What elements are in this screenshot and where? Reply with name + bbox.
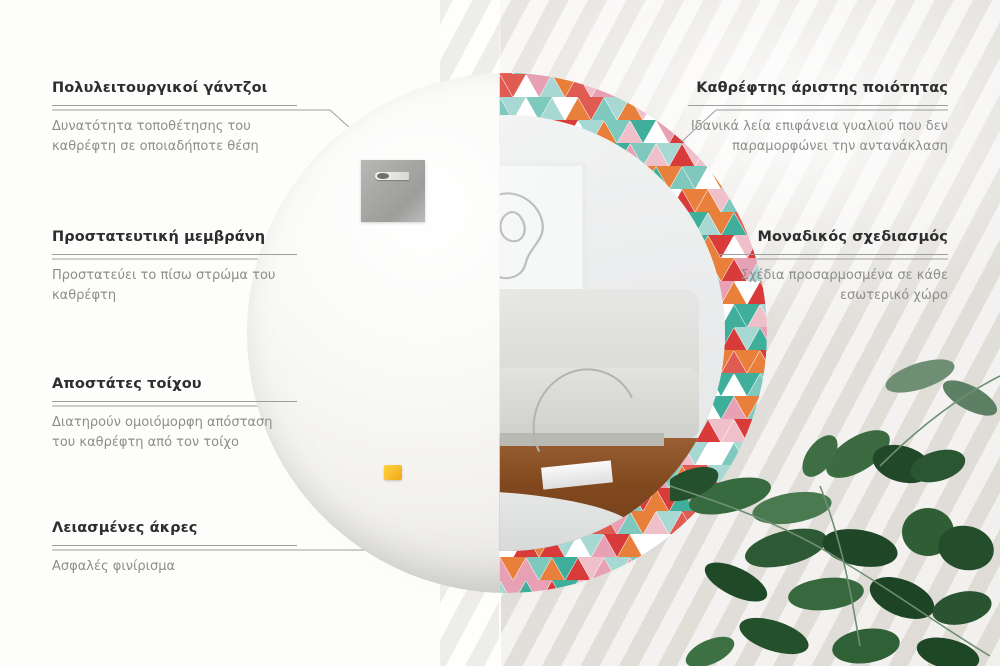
triangle-tile [331, 98, 357, 121]
triangle-tile [318, 557, 344, 580]
callout-top-quality-mirror: Καθρέφτης άριστης ποιότητας Ιδανικά λεία… [688, 80, 948, 156]
triangle-tile [247, 73, 266, 74]
triangle-tile [247, 465, 266, 488]
triangle-tile [247, 580, 266, 593]
callout-body: Δυνατότητα τοποθέτησης του καθρέφτη σε ο… [52, 117, 297, 156]
callout-title: Μοναδικός σχεδιασμός [718, 229, 948, 245]
triangle-tile [305, 73, 331, 75]
triangle-tile [331, 581, 357, 593]
callout-title: Πολυλειτουργικοί γάντζοι [52, 80, 297, 96]
triangle-tile [318, 74, 344, 97]
callout-rule [52, 401, 297, 402]
triangle-tile [435, 73, 461, 75]
infographic-canvas: Πολυλειτουργικοί γάντζοι Δυνατότητα τοπο… [0, 0, 1000, 666]
triangle-tile [266, 580, 292, 593]
triangle-tile [370, 580, 396, 593]
callout-wall-spacers: Αποστάτες τοίχου Διατηρούν ομοιόμορφη απ… [52, 376, 297, 452]
triangle-tile [253, 581, 279, 593]
triangle-tile [357, 73, 383, 75]
triangle-tile [247, 190, 253, 213]
callout-rule [52, 254, 297, 255]
triangle-tile [247, 189, 266, 212]
callout-multifunctional-hooks: Πολυλειτουργικοί γάντζοι Δυνατότητα τοπο… [52, 80, 297, 156]
callout-title: Καθρέφτης άριστης ποιότητας [688, 80, 948, 96]
callout-rule [52, 105, 297, 106]
triangle-tile [253, 73, 279, 75]
triangle-tile [318, 97, 344, 120]
triangle-tile [344, 74, 370, 97]
triangle-tile [331, 73, 357, 75]
triangle-tile [279, 581, 305, 593]
triangle-tile [247, 581, 253, 593]
triangle-tile [253, 489, 279, 512]
mounting-bracket-hook [361, 160, 425, 222]
triangle-tile [305, 581, 331, 593]
triangle-tile [247, 466, 253, 489]
triangle-tile [305, 75, 331, 98]
triangle-tile [292, 580, 318, 593]
triangle-tile [370, 74, 396, 97]
triangle-tile [331, 75, 357, 98]
triangle-tile [396, 73, 422, 74]
triangle-tile [279, 73, 305, 75]
triangle-tile [247, 73, 253, 75]
triangle-tile [422, 73, 448, 74]
triangle-tile [760, 304, 767, 327]
triangle-tile [305, 98, 331, 121]
triangle-tile [409, 73, 435, 75]
callout-unique-design: Μοναδικός σχεδιασμός Σχέδια προσαρμοσμέν… [718, 229, 948, 305]
triangle-tile [253, 190, 279, 213]
triangle-tile [344, 580, 370, 593]
triangle-tile [266, 488, 292, 511]
callout-title: Αποστάτες τοίχου [52, 376, 297, 392]
triangle-tile [760, 166, 767, 189]
triangle-tile [266, 166, 292, 189]
triangle-tile [318, 73, 344, 74]
callout-smoothed-edges: Λειασμένες άκρες Ασφαλές φινίρισμα [52, 520, 297, 577]
callout-protective-membrane: Προστατευτική μεμβράνη Προστατεύει το πί… [52, 229, 297, 305]
triangle-tile [292, 73, 318, 74]
triangle-tile [247, 167, 253, 190]
triangle-tile [247, 166, 266, 189]
callout-body: Ιδανικά λεία επιφάνεια γυαλιού που δεν π… [688, 117, 948, 156]
triangle-tile [383, 581, 409, 593]
callout-rule [688, 105, 948, 106]
triangle-tile [305, 121, 331, 144]
triangle-tile [247, 488, 266, 511]
triangle-tile [760, 189, 767, 212]
triangle-tile [383, 73, 409, 75]
triangle-tile [253, 466, 279, 489]
triangle-tile [247, 489, 253, 512]
foliage-decoration [670, 336, 1000, 666]
callout-rule [52, 545, 297, 546]
callout-body: Διατηρούν ομοιόμορφη απόσταση του καθρέφ… [52, 413, 297, 452]
callout-rule [718, 254, 948, 255]
triangle-tile [344, 73, 370, 74]
wall-spacer-pad [384, 465, 402, 480]
callout-title: Λειασμένες άκρες [52, 520, 297, 536]
triangle-tile [448, 73, 474, 74]
triangle-tile [305, 535, 331, 558]
callout-title: Προστατευτική μεμβράνη [52, 229, 297, 245]
callout-body: Ασφαλές φινίρισμα [52, 557, 297, 577]
triangle-tile [318, 580, 344, 593]
hook-keyhole-slot [375, 172, 409, 180]
triangle-tile [344, 557, 370, 580]
triangle-tile [357, 581, 383, 593]
triangle-tile [370, 73, 396, 74]
triangle-tile [305, 558, 331, 581]
callout-body: Σχέδια προσαρμοσμένα σε κάθε εσωτερικό χ… [718, 266, 948, 305]
triangle-tile [266, 73, 292, 74]
triangle-tile [357, 75, 383, 98]
triangle-tile [253, 167, 279, 190]
callout-body: Προστατεύει το πίσω στρώμα του καθρέφτη [52, 266, 297, 305]
triangle-tile [331, 558, 357, 581]
